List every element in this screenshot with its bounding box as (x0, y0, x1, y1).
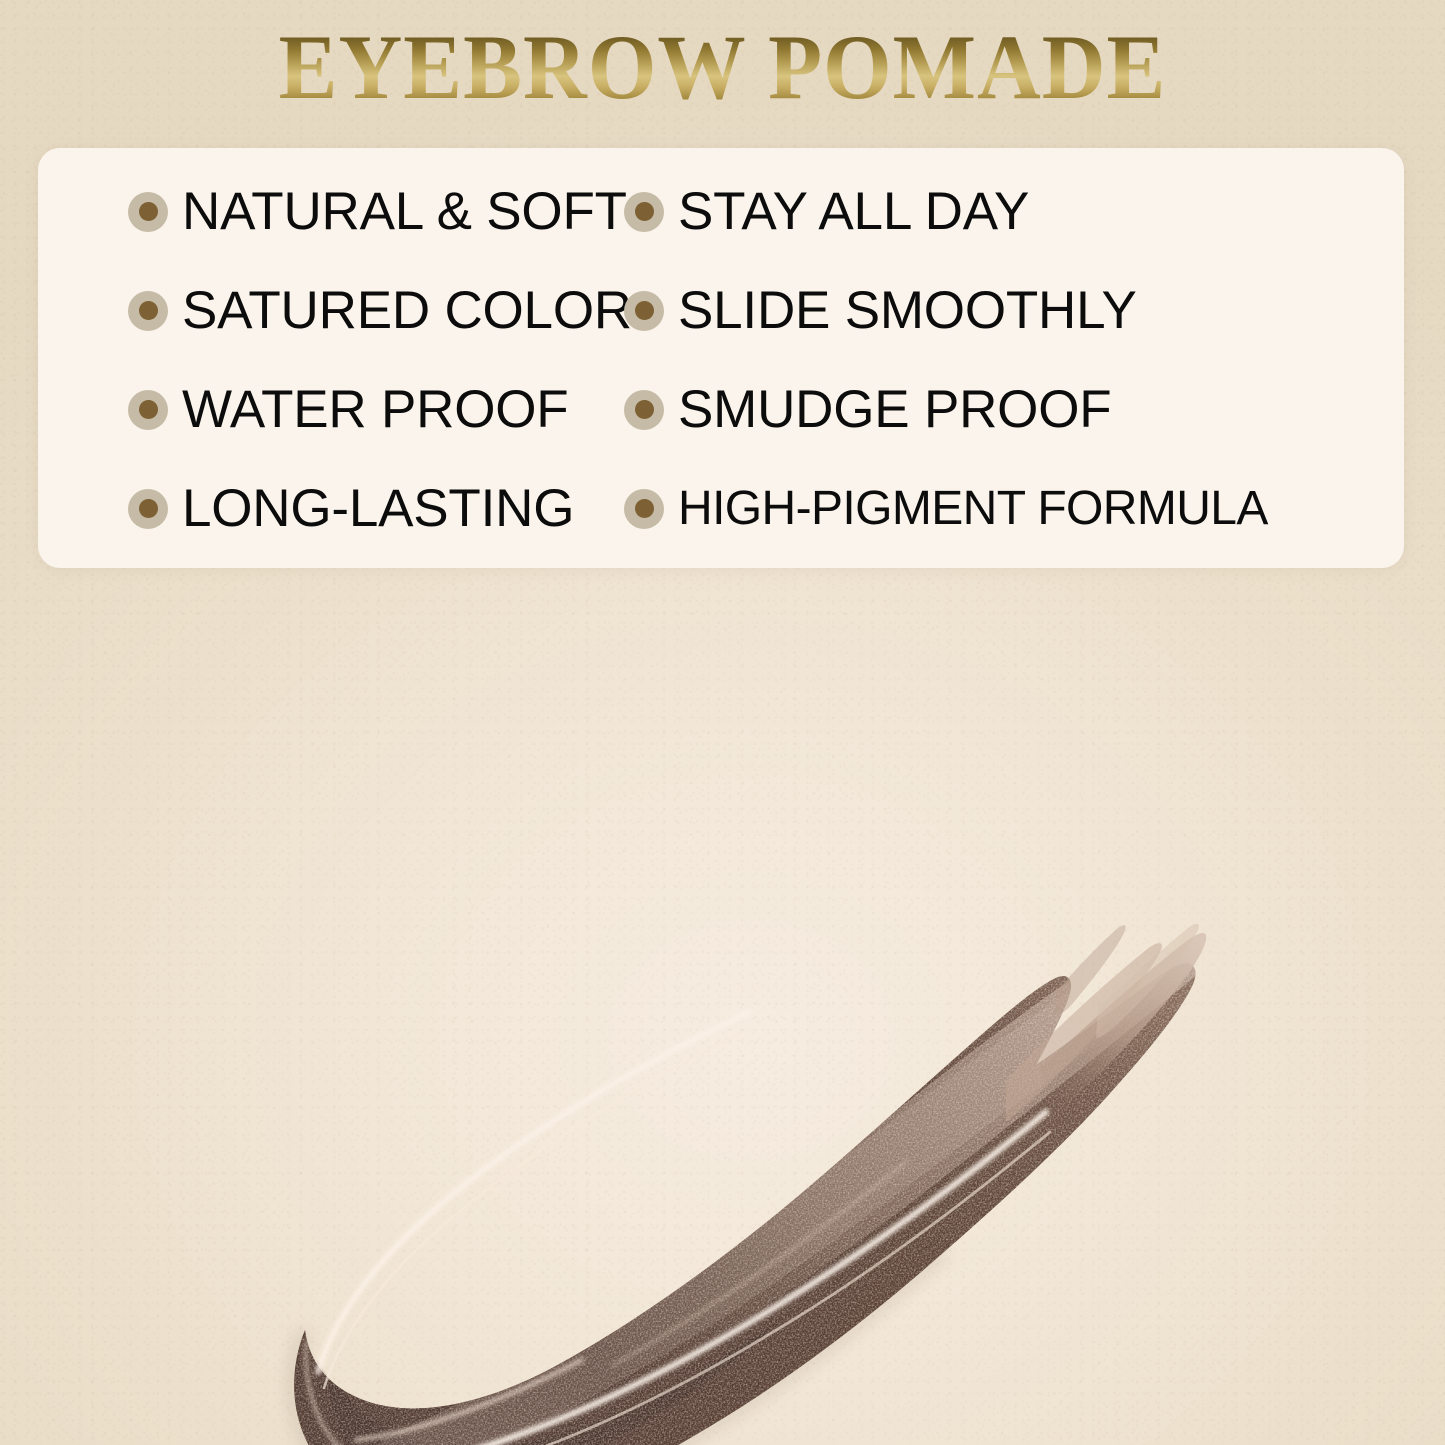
feature-label: WATER PROOF (182, 383, 568, 436)
feature-item-natural-soft: NATURAL & SOFT (38, 185, 624, 238)
bullet-dot-icon (624, 291, 664, 331)
product-feature-banner: EYEBROW POMADE NATURAL & SOFT STAY ALL D… (0, 0, 1445, 1445)
bullet-dot-icon (624, 390, 664, 430)
swatch-body (0, 560, 1445, 1445)
feature-label: SLIDE SMOOTHLY (678, 284, 1137, 337)
feature-label: STAY ALL DAY (678, 185, 1029, 238)
feature-item-satured-color: SATURED COLOR (38, 284, 624, 337)
page-title: EYEBROW POMADE (29, 21, 1416, 113)
bullet-dot-icon (624, 489, 664, 529)
feature-item-stay-all-day: STAY ALL DAY (624, 185, 1404, 238)
feature-item-long-lasting: LONG-LASTING (38, 482, 624, 535)
bullet-dot-icon (128, 489, 168, 529)
feature-item-slide-smoothly: SLIDE SMOOTHLY (624, 284, 1404, 337)
bullet-dot-icon (128, 390, 168, 430)
bullet-dot-icon (128, 291, 168, 331)
feature-item-high-pigment-formula: HIGH-PIGMENT FORMULA (624, 485, 1404, 533)
feature-grid: NATURAL & SOFT STAY ALL DAY SATURED COLO… (38, 148, 1404, 568)
feature-label: HIGH-PIGMENT FORMULA (678, 485, 1268, 533)
feature-label: SATURED COLOR (182, 284, 632, 337)
feature-label: NATURAL & SOFT (182, 185, 627, 238)
feature-item-smudge-proof: SMUDGE PROOF (624, 383, 1404, 436)
bullet-dot-icon (128, 192, 168, 232)
feature-label: SMUDGE PROOF (678, 383, 1111, 436)
feature-item-water-proof: WATER PROOF (38, 383, 624, 436)
feature-label: LONG-LASTING (182, 482, 574, 535)
feature-list-card: NATURAL & SOFT STAY ALL DAY SATURED COLO… (38, 148, 1404, 568)
bullet-dot-icon (624, 192, 664, 232)
product-swatch-region (0, 560, 1445, 1445)
product-swatch-smear (0, 560, 1445, 1445)
